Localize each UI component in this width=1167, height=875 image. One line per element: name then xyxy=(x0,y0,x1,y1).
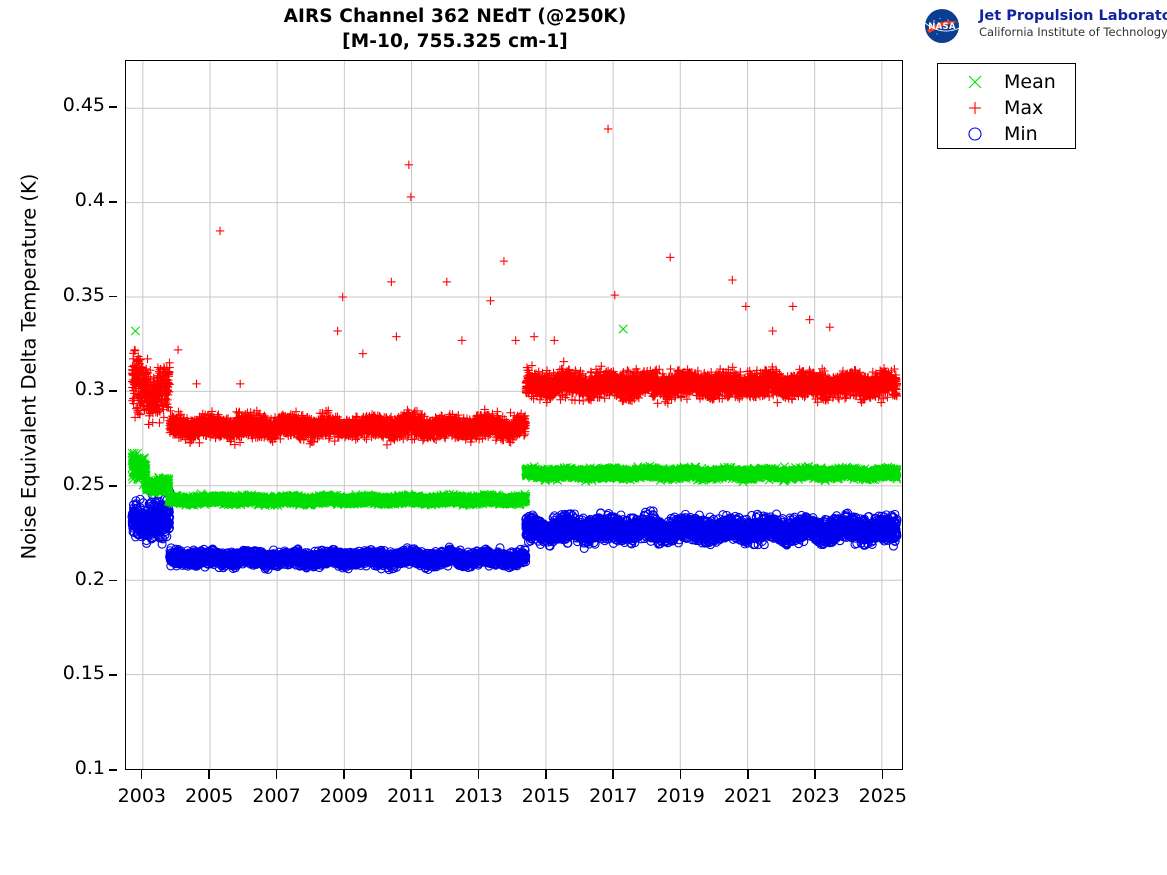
legend-label: Max xyxy=(1004,95,1043,121)
nasa-meatball-icon: NASA xyxy=(912,8,972,44)
x-tick-label: 2009 xyxy=(320,785,368,807)
x-tick-label: 2007 xyxy=(252,785,300,807)
x-tick-label: 2013 xyxy=(454,785,502,807)
x-tick-label: 2023 xyxy=(791,785,839,807)
x-tick-label: 2011 xyxy=(387,785,435,807)
y-tick-mark xyxy=(109,296,117,298)
chart-title: AIRS Channel 362 NEdT (@250K) [M-10, 755… xyxy=(0,4,910,54)
jpl-name-line2: California Institute of Technology xyxy=(979,25,1167,39)
x-tick-mark xyxy=(208,770,210,779)
x-tick-mark xyxy=(747,770,749,779)
x-tick-label: 2021 xyxy=(724,785,772,807)
x-tick-mark xyxy=(612,770,614,779)
y-tick-mark xyxy=(109,201,117,203)
y-tick-label: 0.15 xyxy=(63,662,105,684)
x-tick-mark xyxy=(141,770,143,779)
chart-title-line1: AIRS Channel 362 NEdT (@250K) xyxy=(0,4,910,29)
x-tick-mark xyxy=(882,770,884,779)
legend-marker-circle-icon xyxy=(962,121,988,147)
legend-item-mean[interactable]: Mean xyxy=(938,69,1075,95)
series-max xyxy=(128,125,901,449)
x-tick-mark xyxy=(343,770,345,779)
x-tick-mark xyxy=(410,770,412,779)
nasa-wordmark: NASA xyxy=(928,22,956,32)
x-tick-label: 2003 xyxy=(118,785,166,807)
chart-title-line2: [M-10, 755.325 cm-1] xyxy=(0,29,910,54)
x-tick-mark xyxy=(680,770,682,779)
x-tick-mark xyxy=(478,770,480,779)
y-tick-mark xyxy=(109,580,117,582)
plot-area xyxy=(125,60,903,770)
x-tick-label: 2025 xyxy=(859,785,907,807)
y-tick-label: 0.2 xyxy=(75,568,105,590)
x-tick-mark xyxy=(545,770,547,779)
legend-label: Min xyxy=(1004,121,1038,147)
y-tick-mark xyxy=(109,769,117,771)
x-axis-ticks: 2003200520072009201120132015201720192021… xyxy=(125,780,903,810)
y-tick-mark xyxy=(109,485,117,487)
x-tick-label: 2019 xyxy=(657,785,705,807)
legend-item-min[interactable]: Min xyxy=(938,121,1075,147)
y-tick-label: 0.35 xyxy=(63,284,105,306)
y-tick-mark xyxy=(109,674,117,676)
y-tick-label: 0.3 xyxy=(75,378,105,400)
legend-item-max[interactable]: Max xyxy=(938,95,1075,121)
x-tick-mark xyxy=(276,770,278,779)
jpl-name-line1: Jet Propulsion Laboratory xyxy=(979,8,1167,25)
legend-marker-x-icon xyxy=(962,69,988,95)
nasa-jpl-logo: NASA Jet Propulsion Laboratory Californi… xyxy=(907,6,1162,46)
y-axis-label: Noise Equivalent Delta Temperature (K) xyxy=(18,132,41,602)
y-tick-label: 0.25 xyxy=(63,473,105,495)
y-tick-label: 0.4 xyxy=(75,189,105,211)
legend-label: Mean xyxy=(1004,69,1056,95)
y-tick-label: 0.1 xyxy=(75,757,105,779)
legend-marker-plus-icon xyxy=(962,95,988,121)
x-tick-label: 2015 xyxy=(522,785,570,807)
y-tick-label: 0.45 xyxy=(63,94,105,116)
x-tick-label: 2005 xyxy=(185,785,233,807)
y-tick-mark xyxy=(109,390,117,392)
plot-canvas xyxy=(126,61,902,769)
x-tick-label: 2017 xyxy=(589,785,637,807)
chart-legend: MeanMaxMin xyxy=(937,63,1076,149)
y-tick-mark xyxy=(109,106,117,108)
x-tick-mark xyxy=(814,770,816,779)
